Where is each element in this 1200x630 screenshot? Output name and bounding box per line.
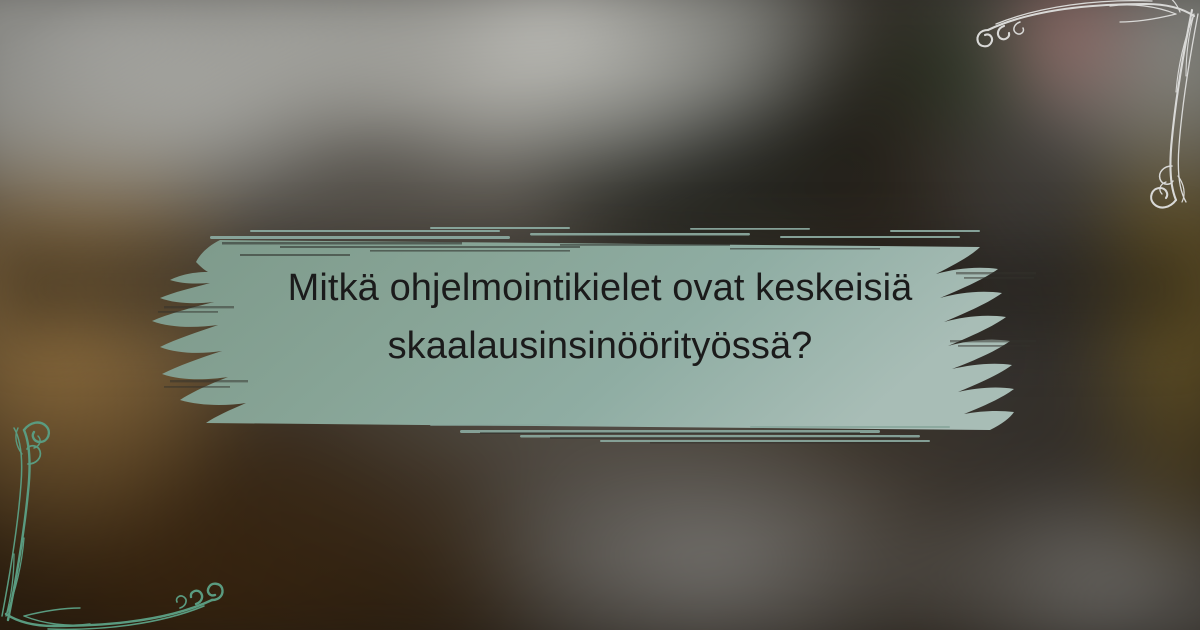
quote-line-1: Mitkä ohjelmointikielet ovat keskeisiä — [288, 259, 913, 317]
quote-line-2: skaalausinsinöörityössä? — [388, 317, 813, 375]
quote-card: Mitkä ohjelmointikielet ovat keskeisiä s… — [0, 0, 1200, 630]
quote-text-block: Mitkä ohjelmointikielet ovat keskeisiä s… — [0, 0, 1200, 630]
